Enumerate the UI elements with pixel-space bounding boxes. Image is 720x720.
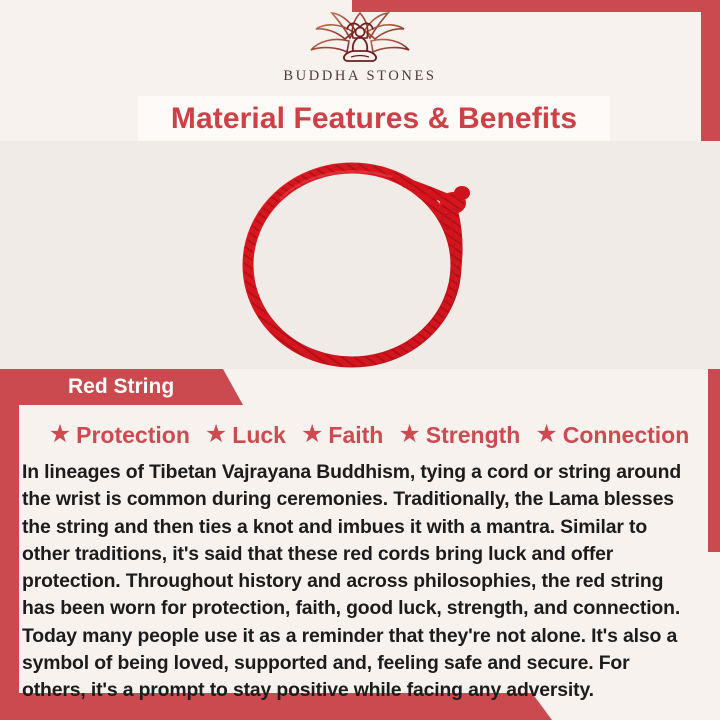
description-text: In lineages of Tibetan Vajrayana Buddhis… xyxy=(22,459,694,705)
feature-list: ★ Protection ★ Luck ★ Faith ★ Strength ★… xyxy=(0,416,720,454)
brand-header: BUDDHA STONES xyxy=(0,0,720,96)
product-image-area xyxy=(0,141,720,369)
feature-label-strength: Strength xyxy=(426,422,521,449)
material-label-banner: Red String xyxy=(0,369,243,405)
title-banner: Material Features & Benefits xyxy=(138,96,610,141)
star-icon: ★ xyxy=(205,422,227,447)
feature-item-luck: ★ Luck xyxy=(205,422,286,449)
feature-label-luck: Luck xyxy=(232,422,286,449)
brand-logo: BUDDHA STONES xyxy=(275,10,445,85)
feature-label-connection: Connection xyxy=(563,422,690,449)
star-icon: ★ xyxy=(398,422,420,447)
infographic-page: BUDDHA STONES Material Features & Benefi… xyxy=(0,0,720,720)
feature-label-faith: Faith xyxy=(328,422,383,449)
lotus-meditation-icon xyxy=(301,10,419,66)
feature-item-strength: ★ Strength xyxy=(398,422,520,449)
brand-name: BUDDHA STONES xyxy=(275,68,445,85)
feature-item-connection: ★ Connection xyxy=(535,422,689,449)
feature-item-faith: ★ Faith xyxy=(301,422,383,449)
bracelet-illustration xyxy=(210,141,510,369)
page-title: Material Features & Benefits xyxy=(171,102,577,136)
star-icon: ★ xyxy=(535,422,557,447)
star-icon: ★ xyxy=(49,422,71,447)
red-string-bracelet-image xyxy=(210,141,510,369)
feature-label-protection: Protection xyxy=(76,422,190,449)
star-icon: ★ xyxy=(301,422,323,447)
feature-item-protection: ★ Protection xyxy=(49,422,190,449)
material-label: Red String xyxy=(68,375,174,399)
